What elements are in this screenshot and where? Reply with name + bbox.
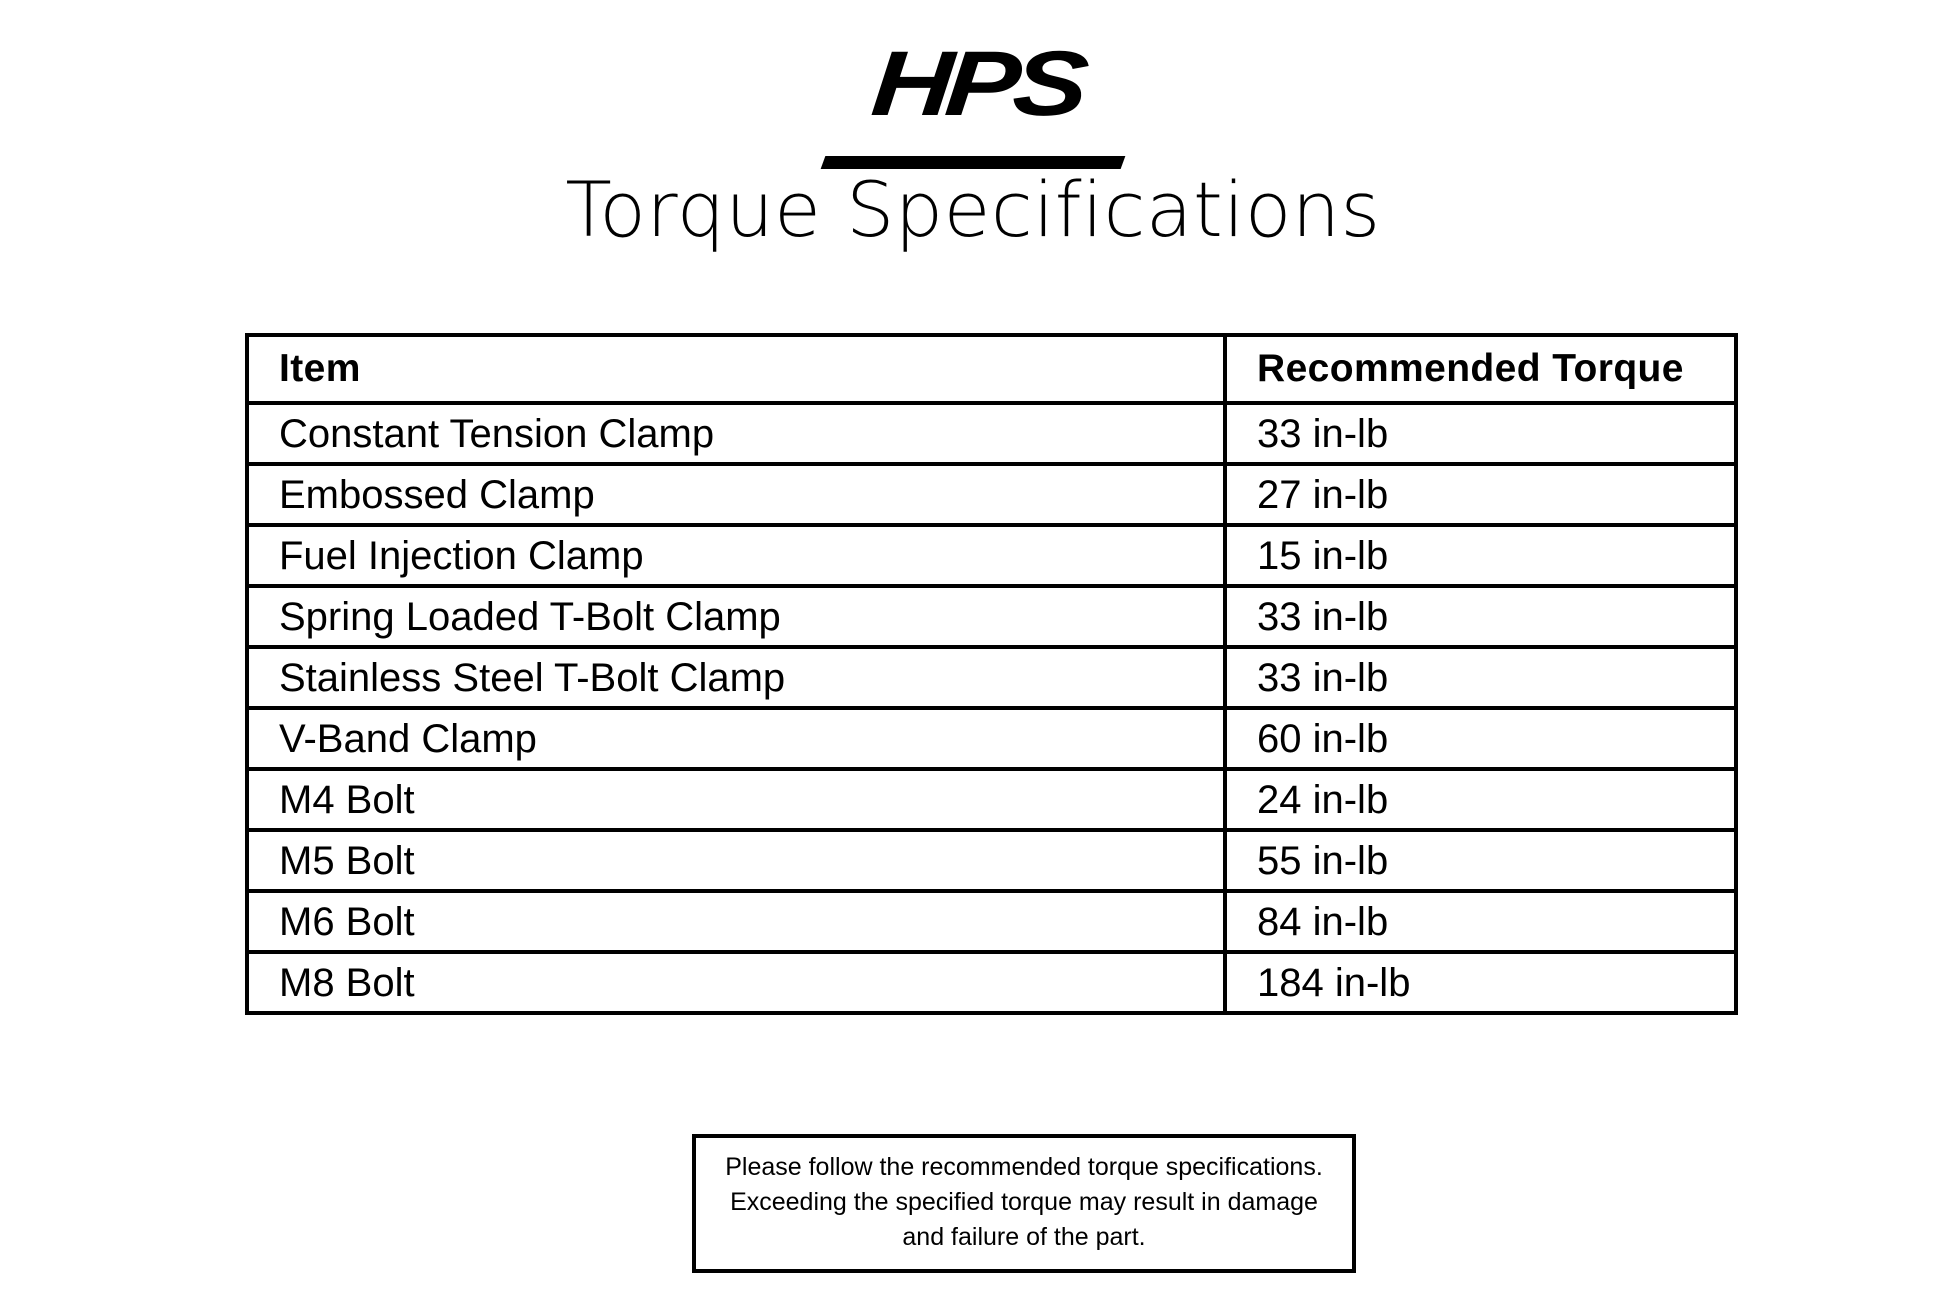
table-row: Fuel Injection Clamp 15 in-lb <box>247 525 1736 586</box>
cell-torque: 33 in-lb <box>1225 647 1736 708</box>
cell-item: Fuel Injection Clamp <box>247 525 1225 586</box>
cell-torque: 15 in-lb <box>1225 525 1736 586</box>
table-row: Embossed Clamp 27 in-lb <box>247 464 1736 525</box>
table-header: Item Recommended Torque <box>247 335 1736 403</box>
table-row: Constant Tension Clamp 33 in-lb <box>247 403 1736 464</box>
cell-torque: 84 in-lb <box>1225 891 1736 952</box>
table-header-row: Item Recommended Torque <box>247 335 1736 403</box>
warning-note-line-3: and failure of the part. <box>710 1220 1338 1255</box>
hps-wordmark-logo: HPS <box>869 38 1086 130</box>
cell-item: Stainless Steel T-Bolt Clamp <box>247 647 1225 708</box>
table-row: Spring Loaded T-Bolt Clamp 33 in-lb <box>247 586 1736 647</box>
page-title: Torque Specifications <box>0 168 1946 252</box>
cell-item: Spring Loaded T-Bolt Clamp <box>247 586 1225 647</box>
cell-item: M8 Bolt <box>247 952 1225 1013</box>
cell-item: M5 Bolt <box>247 830 1225 891</box>
cell-item: V-Band Clamp <box>247 708 1225 769</box>
cell-torque: 27 in-lb <box>1225 464 1736 525</box>
table-row: M8 Bolt 184 in-lb <box>247 952 1736 1013</box>
warning-note-line-2: Exceeding the specified torque may resul… <box>710 1185 1338 1220</box>
column-header-item: Item <box>247 335 1225 403</box>
table-row: M4 Bolt 24 in-lb <box>247 769 1736 830</box>
cell-item: M6 Bolt <box>247 891 1225 952</box>
cell-item: Embossed Clamp <box>247 464 1225 525</box>
torque-specifications-table: Item Recommended Torque Constant Tension… <box>245 333 1738 1015</box>
cell-torque: 184 in-lb <box>1225 952 1736 1013</box>
cell-torque: 55 in-lb <box>1225 830 1736 891</box>
warning-note-box: Please follow the recommended torque spe… <box>692 1134 1356 1273</box>
cell-torque: 33 in-lb <box>1225 586 1736 647</box>
table-row: Stainless Steel T-Bolt Clamp 33 in-lb <box>247 647 1736 708</box>
cell-item: M4 Bolt <box>247 769 1225 830</box>
table-row: M5 Bolt 55 in-lb <box>247 830 1736 891</box>
warning-note-line-1: Please follow the recommended torque spe… <box>710 1150 1338 1185</box>
table-body: Constant Tension Clamp 33 in-lb Embossed… <box>247 403 1736 1013</box>
table-row: V-Band Clamp 60 in-lb <box>247 708 1736 769</box>
cell-torque: 33 in-lb <box>1225 403 1736 464</box>
cell-item: Constant Tension Clamp <box>247 403 1225 464</box>
cell-torque: 60 in-lb <box>1225 708 1736 769</box>
cell-torque: 24 in-lb <box>1225 769 1736 830</box>
brand-logo: HPS <box>0 38 1946 130</box>
table-row: M6 Bolt 84 in-lb <box>247 891 1736 952</box>
column-header-torque: Recommended Torque <box>1225 335 1736 403</box>
